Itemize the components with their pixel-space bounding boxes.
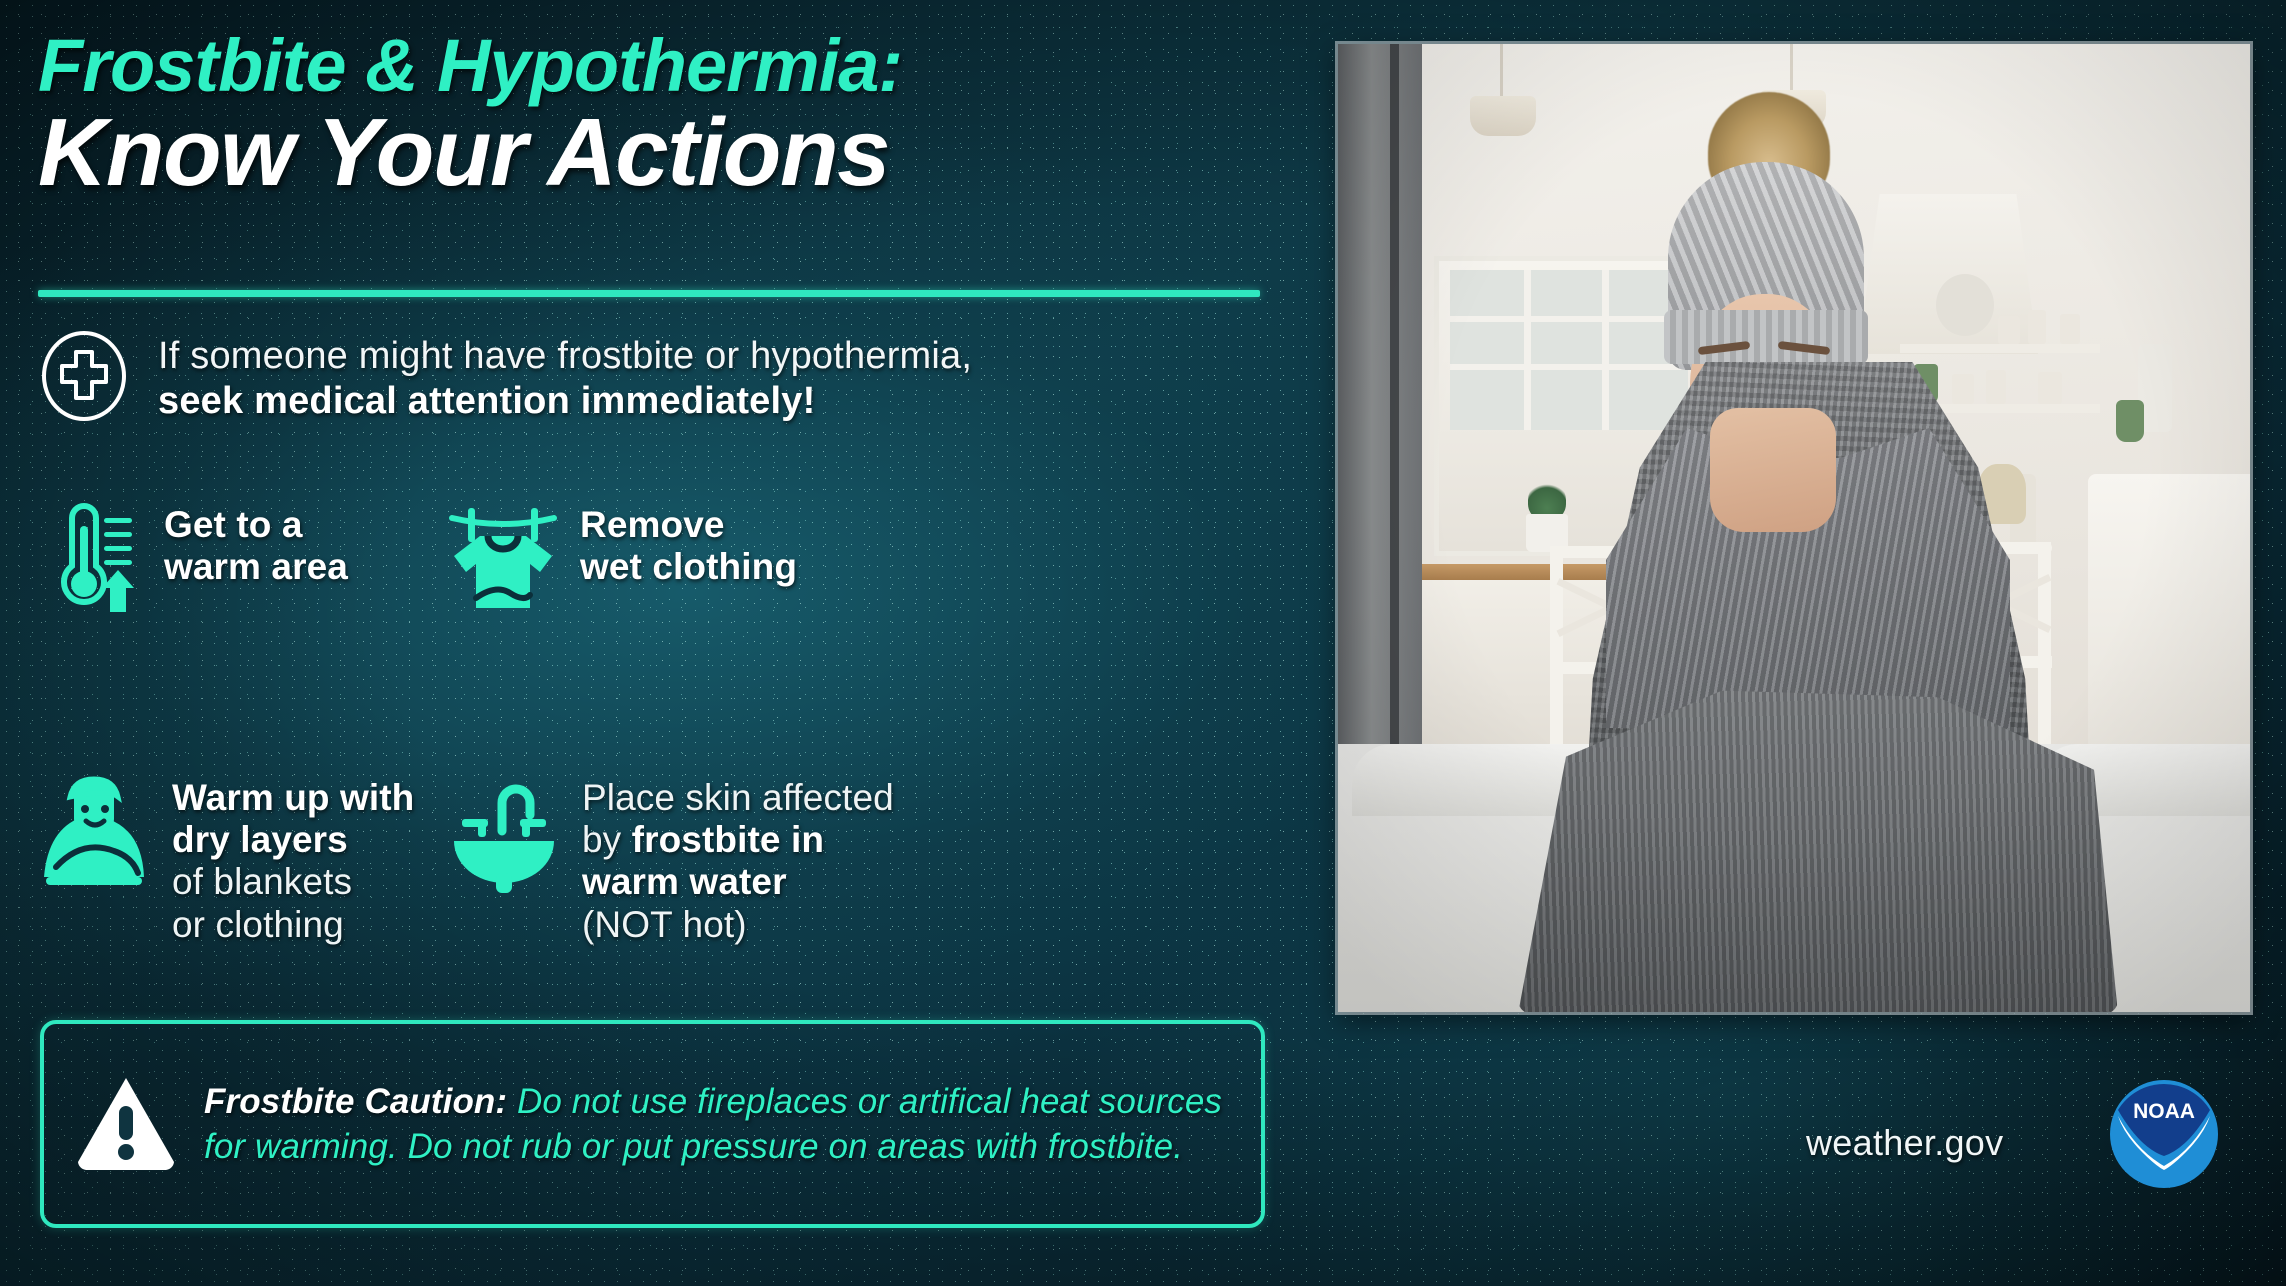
action-item-remove-wet-clothing: Remove wet clothing bbox=[448, 500, 1148, 621]
action-3-line-2: dry layers bbox=[172, 819, 414, 861]
frostbite-caution-box: Frostbite Caution: Do not use fireplaces… bbox=[40, 1020, 1265, 1228]
action-2-line-2: wet clothing bbox=[580, 546, 797, 588]
noaa-logo-text: NOAA bbox=[2133, 1100, 2195, 1123]
actions-row-2: Warm up with dry layers of blankets or c… bbox=[38, 773, 1288, 946]
title-line-2: Know Your Actions bbox=[38, 105, 1288, 201]
actions-grid: Get to a warm area Remove bbox=[38, 500, 1288, 946]
actions-row-1: Get to a warm area Remove bbox=[38, 500, 1288, 621]
person-in-blanket-icon bbox=[38, 773, 150, 898]
action-4-line-1: Place skin affected bbox=[582, 777, 894, 819]
content-column: Frostbite & Hypothermia: Know Your Actio… bbox=[0, 0, 1320, 1286]
noaa-logo: NOAA bbox=[2108, 1078, 2220, 1190]
weather-gov-label: weather.gov bbox=[1806, 1122, 2003, 1164]
action-item-warm-water: Place skin affected by frostbite in warm… bbox=[448, 773, 1148, 946]
medical-line-2: seek medical attention immediately! bbox=[158, 379, 972, 424]
medical-line-1: If someone might have frostbite or hypot… bbox=[158, 334, 972, 379]
caution-lead: Frostbite Caution: bbox=[204, 1082, 507, 1121]
action-1-line-1: Get to a bbox=[164, 504, 348, 546]
warning-triangle-icon bbox=[74, 1074, 178, 1175]
thermometer-up-arrow-icon bbox=[38, 500, 142, 621]
action-3-line-3: of blankets bbox=[172, 861, 414, 903]
action-item-warm-up-dry-layers: Warm up with dry layers of blankets or c… bbox=[38, 773, 448, 946]
sink-faucet-icon bbox=[448, 773, 560, 902]
action-2-line-1: Remove bbox=[580, 504, 797, 546]
page-title: Frostbite & Hypothermia: Know Your Actio… bbox=[38, 28, 1288, 201]
action-4-line-4: (NOT hot) bbox=[582, 904, 894, 946]
action-3-line-4: or clothing bbox=[172, 904, 414, 946]
action-4-line-3: warm water bbox=[582, 861, 894, 903]
title-divider bbox=[38, 290, 1260, 297]
action-4-line-2: by frostbite in bbox=[582, 819, 894, 861]
medical-attention-banner: If someone might have frostbite or hypot… bbox=[38, 330, 1278, 427]
caution-text: Frostbite Caution: Do not use fireplaces… bbox=[204, 1079, 1231, 1170]
action-4-line-2-light: by bbox=[582, 819, 632, 860]
action-item-get-to-warm-area: Get to a warm area bbox=[38, 500, 448, 621]
tshirt-clothesline-icon bbox=[448, 500, 558, 621]
action-4-line-2-bold: frostbite in bbox=[632, 819, 824, 860]
photo-woman-shivering-in-blanket bbox=[1338, 44, 2250, 1012]
medical-cross-circle-icon bbox=[38, 330, 130, 427]
title-line-1: Frostbite & Hypothermia: bbox=[38, 28, 1288, 103]
action-3-line-1: Warm up with bbox=[172, 777, 414, 819]
action-1-line-2: warm area bbox=[164, 546, 348, 588]
